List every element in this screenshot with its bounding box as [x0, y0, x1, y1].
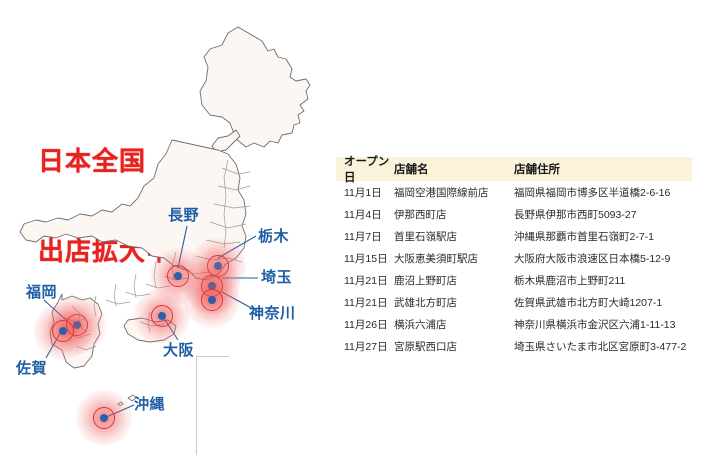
cell-store-address: 沖縄県那覇市首里石嶺町2-7-1 [514, 229, 692, 244]
cell-store-name: 大阪恵美須町駅店 [394, 251, 514, 266]
table-row: 11月26日 横浜六浦店 神奈川県横浜市金沢区六浦1-11-13 [336, 313, 692, 335]
table-row: 11月4日 伊那西町店 長野県伊那市西町5093-27 [336, 203, 692, 225]
cell-store-name: 横浜六浦店 [394, 317, 514, 332]
cell-open-date: 11月1日 [336, 185, 394, 200]
cell-store-name: 首里石嶺駅店 [394, 229, 514, 244]
cell-store-name: 武雄北方町店 [394, 295, 514, 310]
marker-dot-kanagawa [208, 296, 216, 304]
cell-open-date: 11月27日 [336, 339, 394, 354]
marker-dot-okinawa [100, 414, 108, 422]
column-header-store-address: 店舗住所 [514, 161, 692, 177]
map-label-tochigi: 栃木 [258, 228, 289, 245]
cell-store-name: 鹿沼上野町店 [394, 273, 514, 288]
marker-dot-tochigi [214, 262, 222, 270]
cell-store-address: 佐賀県武雄市北方町大崎1207-1 [514, 295, 692, 310]
inset-frame [196, 356, 229, 455]
cell-open-date: 11月21日 [336, 273, 394, 288]
marker-dot-saga [59, 327, 67, 335]
column-header-store-name: 店舗名 [394, 161, 514, 177]
cell-open-date: 11月26日 [336, 317, 394, 332]
map-label-okinawa: 沖縄 [134, 396, 165, 413]
cell-store-address: 大阪府大阪市浪速区日本橋5-12-9 [514, 251, 692, 266]
poster-canvas: 日本全国 出店拡大中！ [0, 0, 710, 474]
store-openings-table: オープン日 店舗名 店舗住所 11月1日 福岡空港国際線前店 福岡県福岡市博多区… [336, 157, 692, 357]
map-label-saitama: 埼玉 [261, 269, 292, 286]
marker-dot-nagano [174, 272, 182, 280]
cell-open-date: 11月15日 [336, 251, 394, 266]
map-label-osaka: 大阪 [163, 342, 194, 359]
table-row: 11月21日 武雄北方町店 佐賀県武雄市北方町大崎1207-1 [336, 291, 692, 313]
cell-store-name: 伊那西町店 [394, 207, 514, 222]
marker-dot-osaka [158, 312, 166, 320]
table-row: 11月7日 首里石嶺駅店 沖縄県那覇市首里石嶺町2-7-1 [336, 225, 692, 247]
table-row: 11月1日 福岡空港国際線前店 福岡県福岡市博多区半道橋2-6-16 [336, 181, 692, 203]
cell-store-address: 栃木県鹿沼市上野町211 [514, 273, 692, 288]
marker-dot-fukuoka [73, 321, 81, 329]
cell-open-date: 11月7日 [336, 229, 394, 244]
table-row: 11月27日 宮原駅西口店 埼玉県さいたま市北区宮原町3-477-2 [336, 335, 692, 357]
map-label-saga: 佐賀 [16, 360, 47, 377]
cell-open-date: 11月4日 [336, 207, 394, 222]
map-label-kanagawa: 神奈川 [249, 305, 296, 322]
cell-store-name: 宮原駅西口店 [394, 339, 514, 354]
map-label-fukuoka: 福岡 [26, 284, 57, 301]
cell-store-name: 福岡空港国際線前店 [394, 185, 514, 200]
table-row: 11月15日 大阪恵美須町駅店 大阪府大阪市浪速区日本橋5-12-9 [336, 247, 692, 269]
cell-store-address: 福岡県福岡市博多区半道橋2-6-16 [514, 185, 692, 200]
map-label-nagano: 長野 [168, 207, 199, 224]
cell-store-address: 長野県伊那市西町5093-27 [514, 207, 692, 222]
table-row: 11月21日 鹿沼上野町店 栃木県鹿沼市上野町211 [336, 269, 692, 291]
cell-store-address: 埼玉県さいたま市北区宮原町3-477-2 [514, 339, 692, 354]
table-header-row: オープン日 店舗名 店舗住所 [336, 157, 692, 181]
cell-open-date: 11月21日 [336, 295, 394, 310]
japan-map: 長野 栃木 埼玉 神奈川 福岡 佐賀 大阪 沖縄 [0, 0, 340, 474]
cell-store-address: 神奈川県横浜市金沢区六浦1-11-13 [514, 317, 692, 332]
column-header-open-date: オープン日 [336, 153, 394, 185]
